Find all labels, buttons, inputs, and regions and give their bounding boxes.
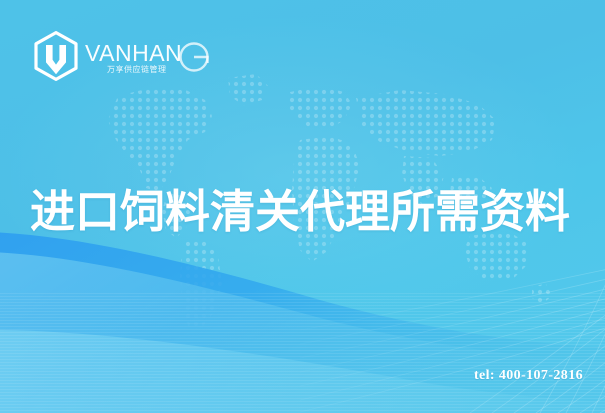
svg-text:万享供应链管理: 万享供应链管理 xyxy=(107,64,167,74)
vanhang-wordmark: VANHAN 万享供应链管理 xyxy=(85,37,215,77)
promo-banner: VANHAN 万享供应链管理 进口饲料清关代理所需资料 tel: 400-107… xyxy=(0,0,605,413)
svg-text:VANHAN: VANHAN xyxy=(85,40,182,66)
hexagon-v-logo-icon xyxy=(33,31,79,81)
contact-phone: tel: 400-107-2816 xyxy=(474,368,583,384)
brand-logo: VANHAN 万享供应链管理 xyxy=(33,31,85,81)
page-title: 进口饲料清关代理所需资料 xyxy=(30,183,578,241)
